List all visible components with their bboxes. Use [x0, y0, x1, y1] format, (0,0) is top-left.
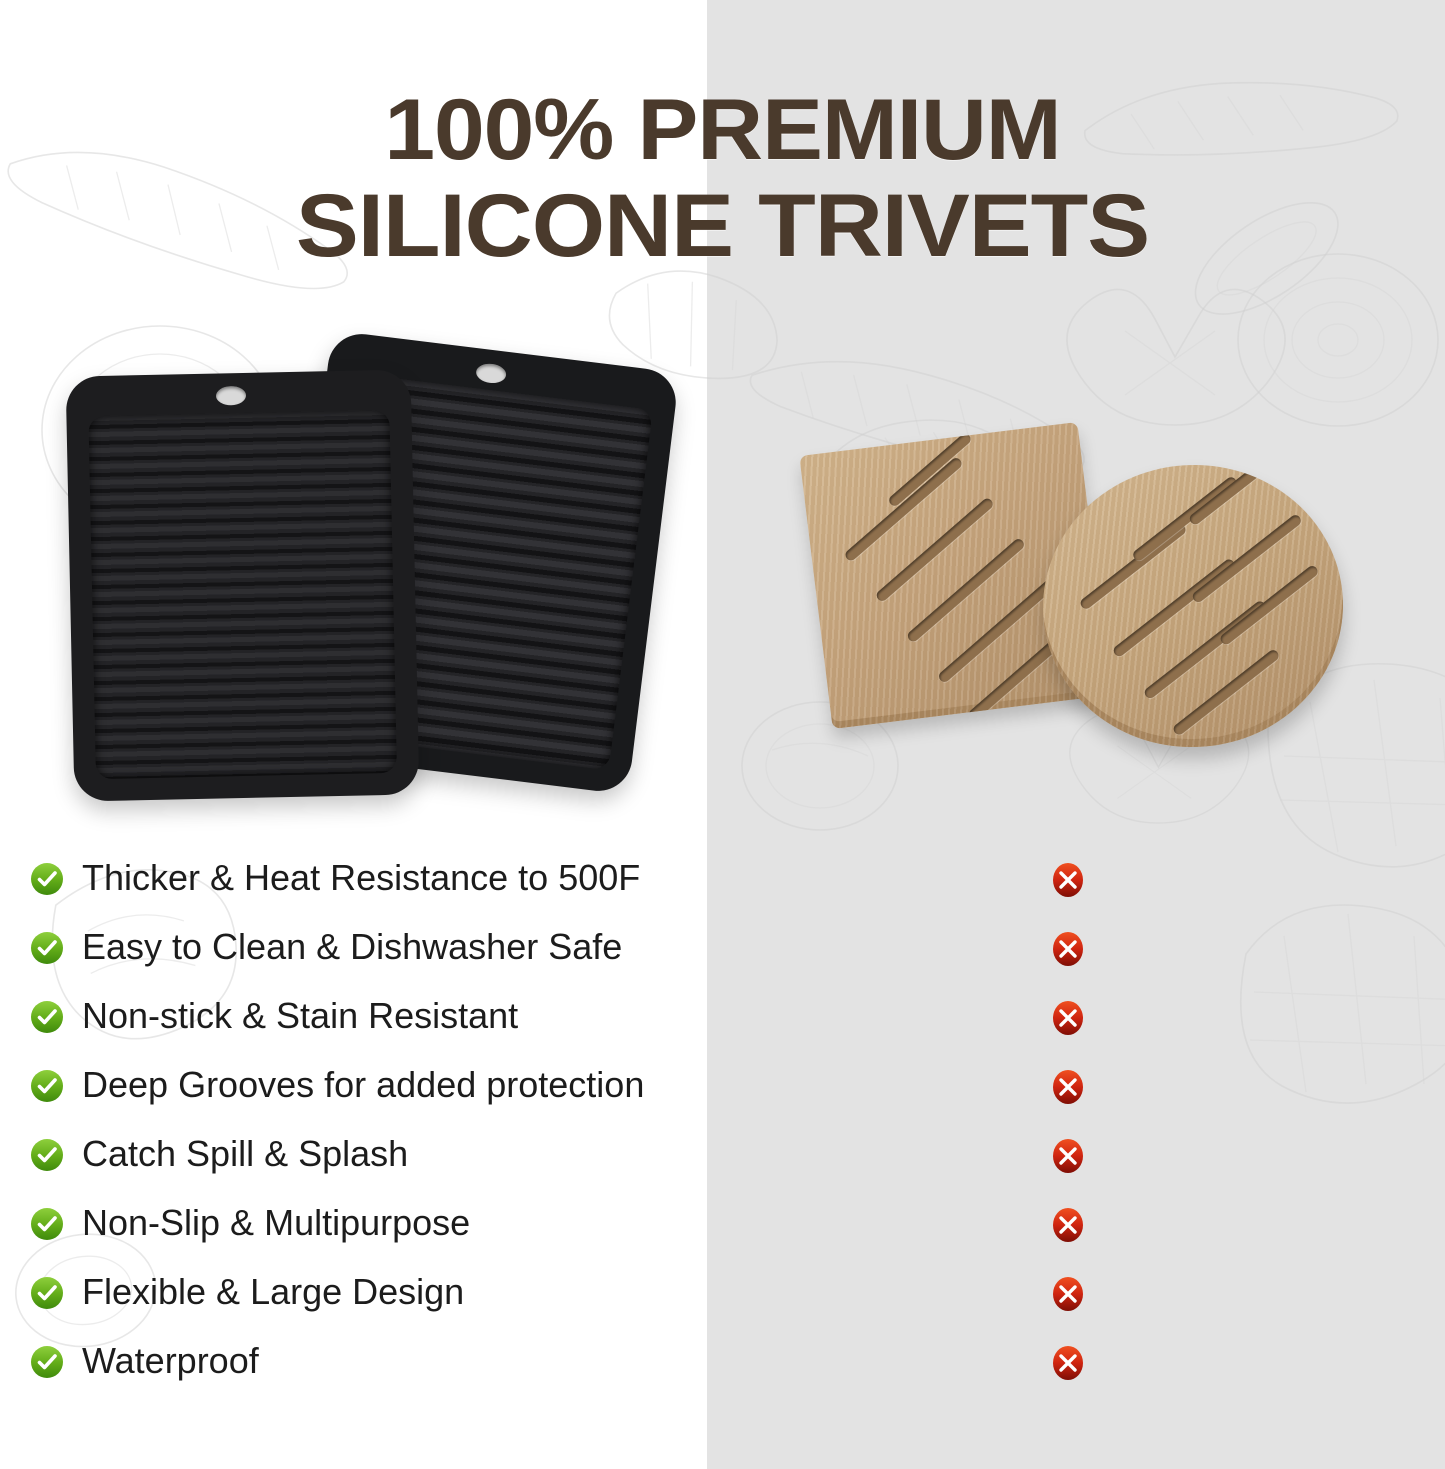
- headline-line-1: 100% PREMIUM: [0, 88, 1445, 172]
- x-circle-icon: [1050, 1276, 1086, 1312]
- feature-row: Flexible & Large Design: [0, 1266, 1445, 1335]
- feature-row: Easy to Clean & Dishwasher Safe: [0, 921, 1445, 990]
- feature-row: Deep Grooves for added protection: [0, 1059, 1445, 1128]
- headline: 100% PREMIUM SILICONE TRIVETS: [0, 88, 1445, 269]
- feature-row: Waterproof: [0, 1335, 1445, 1404]
- check-circle-icon: [30, 931, 64, 965]
- feature-label: Waterproof: [82, 1339, 259, 1383]
- bamboo-trivets-image: [795, 420, 1375, 760]
- headline-line-2: SILICONE TRIVETS: [0, 182, 1445, 269]
- check-circle-icon: [30, 1138, 64, 1172]
- feature-label: Non-Slip & Multipurpose: [82, 1201, 470, 1245]
- feature-comparison-list: Thicker & Heat Resistance to 500F Easy t: [0, 852, 1445, 1404]
- x-circle-icon: [1050, 1207, 1086, 1243]
- check-circle-icon: [30, 1207, 64, 1241]
- x-circle-icon: [1050, 1069, 1086, 1105]
- black-silicone-trivets-image: [55, 345, 675, 815]
- feature-label: Easy to Clean & Dishwasher Safe: [82, 925, 622, 969]
- feature-row: Non-stick & Stain Resistant: [0, 990, 1445, 1059]
- x-circle-icon: [1050, 1138, 1086, 1174]
- feature-row: Catch Spill & Splash: [0, 1128, 1445, 1197]
- x-circle-icon: [1050, 931, 1086, 967]
- x-circle-icon: [1050, 1345, 1086, 1381]
- x-circle-icon: [1050, 862, 1086, 898]
- silicone-ribbed-surface: [88, 410, 397, 779]
- feature-label: Non-stick & Stain Resistant: [82, 994, 518, 1038]
- x-circle-icon: [1050, 1000, 1086, 1036]
- feature-label: Catch Spill & Splash: [82, 1132, 408, 1176]
- feature-label: Thicker & Heat Resistance to 500F: [82, 856, 640, 900]
- feature-row: Non-Slip & Multipurpose: [0, 1197, 1445, 1266]
- product-infographic: 100% PREMIUM SILICONE TRIVETS: [0, 0, 1445, 1469]
- feature-label: Flexible & Large Design: [82, 1270, 464, 1314]
- check-circle-icon: [30, 1000, 64, 1034]
- feature-row: Thicker & Heat Resistance to 500F: [0, 852, 1445, 921]
- check-circle-icon: [30, 1276, 64, 1310]
- check-circle-icon: [30, 862, 64, 896]
- feature-label: Deep Grooves for added protection: [82, 1063, 644, 1107]
- hanging-hole-icon: [475, 362, 507, 385]
- check-circle-icon: [30, 1345, 64, 1379]
- silicone-trivet-front: [66, 369, 420, 801]
- hanging-hole-icon: [216, 386, 246, 406]
- check-circle-icon: [30, 1069, 64, 1103]
